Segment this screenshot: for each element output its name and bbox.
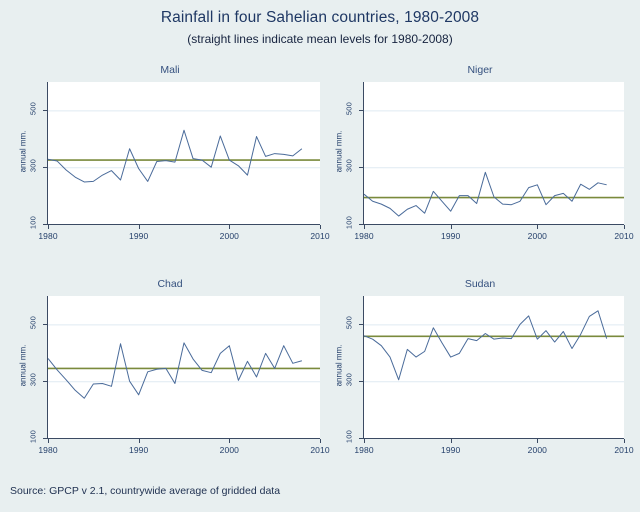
page-title: Rainfall in four Sahelian countries, 198…	[0, 8, 640, 28]
y-tick	[359, 224, 363, 225]
y-tick	[43, 324, 47, 325]
y-tick-label: 300	[345, 371, 354, 389]
x-tick-label: 1990	[126, 231, 152, 241]
y-axis-line-chad	[47, 296, 48, 438]
panel-sudan: Sudan1003005001980199020002010annual mm.	[330, 278, 630, 468]
plot-area-chad	[48, 296, 320, 438]
y-tick-label: 300	[29, 371, 38, 389]
x-tick	[139, 439, 140, 443]
y-axis-line-mali	[47, 82, 48, 224]
panel-chad: Chad1003005001980199020002010annual mm.	[14, 278, 326, 468]
y-tick-label: 100	[345, 214, 354, 232]
series-svg-niger	[364, 82, 624, 224]
panel-title-niger: Niger	[330, 64, 630, 76]
x-tick	[364, 439, 365, 443]
x-tick	[320, 225, 321, 229]
data-series-chad	[48, 343, 302, 398]
title-block: Rainfall in four Sahelian countries, 198…	[0, 8, 640, 48]
data-series-mali	[48, 130, 302, 182]
data-series-niger	[364, 172, 607, 216]
chart-page: Rainfall in four Sahelian countries, 198…	[0, 0, 640, 512]
source-note: Source: GPCP v 2.1, countrywide average …	[10, 485, 280, 497]
y-tick	[359, 438, 363, 439]
panel-title-chad: Chad	[14, 278, 326, 290]
y-axis-line-niger	[363, 82, 364, 224]
y-axis-label-mali: annual mm.	[19, 124, 28, 180]
panel-mali: Mali1003005001980199020002010annual mm.	[14, 64, 326, 254]
y-tick	[359, 110, 363, 111]
y-axis-label-sudan: annual mm.	[335, 338, 344, 394]
x-tick	[48, 225, 49, 229]
plot-area-niger	[364, 82, 624, 224]
x-tick-label: 2000	[216, 231, 242, 241]
x-tick	[451, 225, 452, 229]
x-tick	[139, 225, 140, 229]
x-tick-label: 1980	[351, 445, 377, 455]
x-tick	[624, 439, 625, 443]
y-tick	[43, 381, 47, 382]
panel-niger: Niger1003005001980199020002010annual mm.	[330, 64, 630, 254]
x-tick-label: 2010	[611, 445, 637, 455]
y-tick-label: 300	[345, 157, 354, 175]
y-axis-line-sudan	[363, 296, 364, 438]
x-tick	[537, 225, 538, 229]
panel-title-sudan: Sudan	[330, 278, 630, 290]
x-tick-label: 1980	[35, 231, 61, 241]
y-tick-label: 500	[29, 314, 38, 332]
plot-area-mali	[48, 82, 320, 224]
x-tick	[229, 439, 230, 443]
plot-area-sudan	[364, 296, 624, 438]
x-tick	[320, 439, 321, 443]
x-tick	[537, 439, 538, 443]
x-tick-label: 2000	[216, 445, 242, 455]
y-tick	[359, 167, 363, 168]
y-axis-label-chad: annual mm.	[19, 338, 28, 394]
x-tick-label: 2000	[524, 231, 550, 241]
y-tick-label: 100	[29, 428, 38, 446]
x-tick-label: 2000	[524, 445, 550, 455]
y-axis-label-niger: annual mm.	[335, 124, 344, 180]
y-tick-label: 300	[29, 157, 38, 175]
x-tick-label: 1990	[126, 445, 152, 455]
series-svg-sudan	[364, 296, 624, 438]
x-tick	[624, 225, 625, 229]
x-axis-line-chad	[47, 438, 320, 439]
panel-title-mali: Mali	[14, 64, 326, 76]
y-tick-label: 500	[29, 100, 38, 118]
x-axis-line-mali	[47, 224, 320, 225]
y-tick	[43, 438, 47, 439]
x-tick-label: 1990	[438, 445, 464, 455]
x-tick	[48, 439, 49, 443]
y-tick-label: 100	[29, 214, 38, 232]
series-svg-chad	[48, 296, 320, 438]
y-tick	[359, 324, 363, 325]
page-subtitle: (straight lines indicate mean levels for…	[0, 30, 640, 48]
x-tick-label: 1980	[351, 231, 377, 241]
y-tick-label: 100	[345, 428, 354, 446]
y-tick	[43, 110, 47, 111]
y-tick	[43, 224, 47, 225]
x-tick-label: 1990	[438, 231, 464, 241]
y-tick-label: 500	[345, 314, 354, 332]
y-tick	[43, 167, 47, 168]
x-axis-line-niger	[363, 224, 624, 225]
y-tick	[359, 381, 363, 382]
x-tick	[451, 439, 452, 443]
series-svg-mali	[48, 82, 320, 224]
x-axis-line-sudan	[363, 438, 624, 439]
x-tick	[229, 225, 230, 229]
x-tick-label: 2010	[611, 231, 637, 241]
y-tick-label: 500	[345, 100, 354, 118]
x-tick-label: 1980	[35, 445, 61, 455]
data-series-sudan	[364, 311, 607, 380]
x-tick	[364, 225, 365, 229]
